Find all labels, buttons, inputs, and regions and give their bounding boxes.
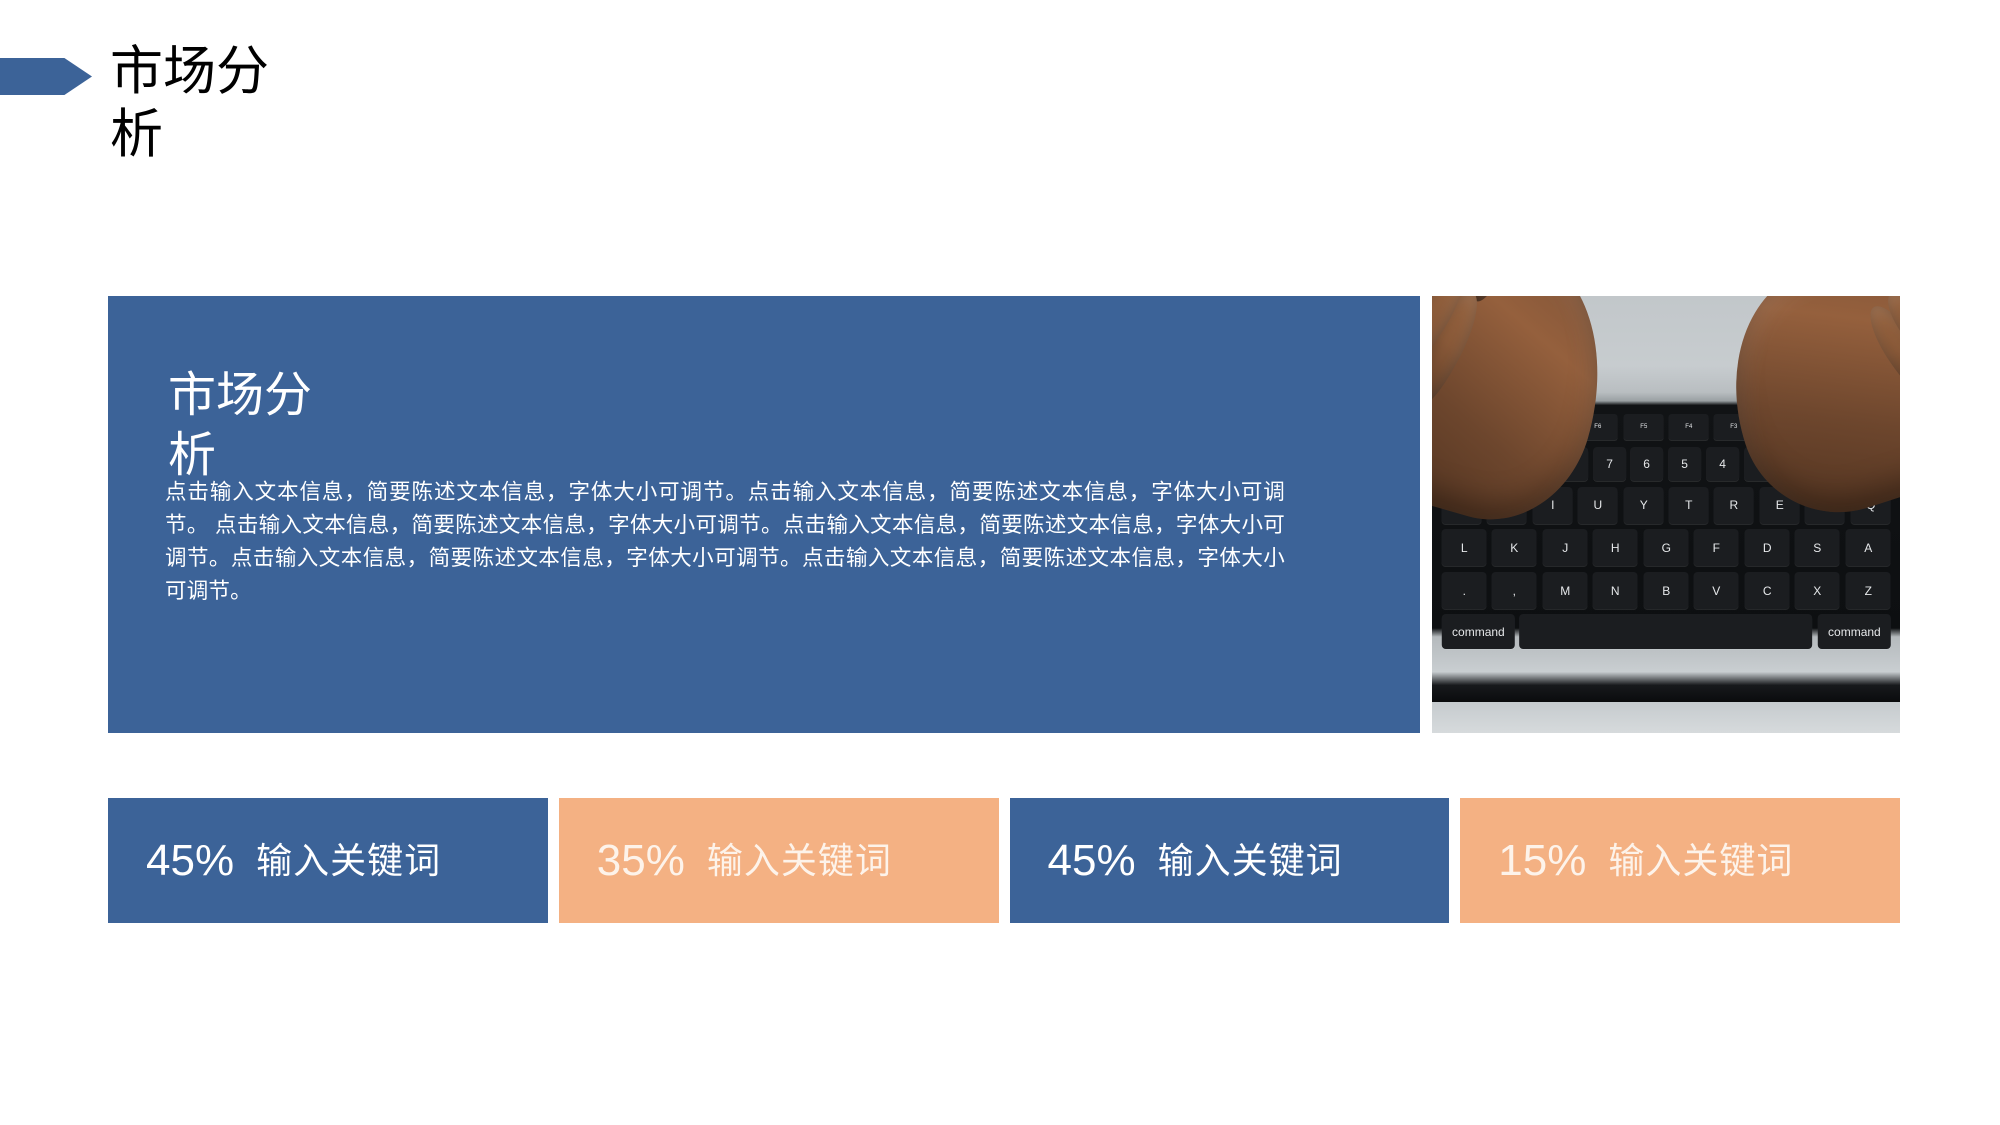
key: 4 <box>1706 447 1739 481</box>
key-command-right: command <box>1441 614 1514 649</box>
key: A <box>1845 529 1890 566</box>
key: M <box>1542 572 1587 609</box>
key: N <box>1593 572 1638 609</box>
key: 7 <box>1593 447 1626 481</box>
key: F <box>1694 529 1739 566</box>
stat-label: 输入关键词 <box>256 843 441 879</box>
stat-label: 输入关键词 <box>707 843 892 879</box>
key-space <box>1520 614 1813 649</box>
stat-value: 35% <box>597 839 685 883</box>
laptop-front-edge <box>1432 702 1900 733</box>
stat-card-4[interactable]: 15% 输入关键词 <box>1460 798 1900 923</box>
key: U <box>1578 487 1618 524</box>
stat-card-3[interactable]: 45% 输入关键词 <box>1010 798 1450 923</box>
slide-header: 市场分析 <box>0 40 1000 200</box>
keyboard-row-home: A S D F G H J K L <box>1441 529 1890 566</box>
key: D <box>1744 529 1789 566</box>
key: F5 <box>1623 414 1663 440</box>
arrow-right-icon <box>0 58 92 95</box>
key: . <box>1441 572 1486 609</box>
key: C <box>1744 572 1789 609</box>
key: R <box>1714 487 1754 524</box>
panel-heading: 市场分析 <box>168 366 348 486</box>
keyboard-row-space: command command <box>1441 614 1890 649</box>
key-command-left: command <box>1817 614 1890 649</box>
stat-bar-row: 45% 输入关键词 35% 输入关键词 45% 输入关键词 15% 输入关键词 <box>108 798 1900 923</box>
key: T <box>1669 487 1709 524</box>
keyboard-row-bottom-letters: Z X C V B N M , . <box>1441 572 1890 609</box>
key: Y <box>1623 487 1663 524</box>
key: X <box>1795 572 1840 609</box>
keyboard-photo: esc F1 F2 F3 F4 F5 F6 F7 F8 F9 ~ 1 2 3 4… <box>1432 296 1900 733</box>
key: V <box>1694 572 1739 609</box>
stat-value: 45% <box>1048 839 1136 883</box>
key: Z <box>1845 572 1890 609</box>
slide-canvas: 市场分析 市场分析 点击输入文本信息，简要陈述文本信息，字体大小可调节。点击输入… <box>0 0 2000 1125</box>
key: J <box>1542 529 1587 566</box>
stat-label: 输入关键词 <box>1608 843 1793 879</box>
key: , <box>1492 572 1537 609</box>
key: 6 <box>1631 447 1664 481</box>
key: S <box>1795 529 1840 566</box>
stat-card-2[interactable]: 35% 输入关键词 <box>559 798 999 923</box>
content-panel: 市场分析 点击输入文本信息，简要陈述文本信息，字体大小可调节。点击输入文本信息，… <box>108 296 1420 733</box>
stat-value: 45% <box>146 839 234 883</box>
page-title: 市场分析 <box>110 40 296 166</box>
stat-label: 输入关键词 <box>1158 843 1343 879</box>
key: K <box>1492 529 1537 566</box>
stat-card-1[interactable]: 45% 输入关键词 <box>108 798 548 923</box>
key: L <box>1441 529 1486 566</box>
panel-body-text: 点击输入文本信息，简要陈述文本信息，字体大小可调节。点击输入文本信息，简要陈述文… <box>165 476 1285 608</box>
key: B <box>1643 572 1688 609</box>
key: 5 <box>1668 447 1701 481</box>
key: F4 <box>1669 414 1709 440</box>
key: H <box>1593 529 1638 566</box>
keyboard-photo-inner: esc F1 F2 F3 F4 F5 F6 F7 F8 F9 ~ 1 2 3 4… <box>1432 296 1900 733</box>
laptop-front-lip <box>1432 685 1900 702</box>
key: G <box>1643 529 1688 566</box>
stat-value: 15% <box>1498 839 1586 883</box>
